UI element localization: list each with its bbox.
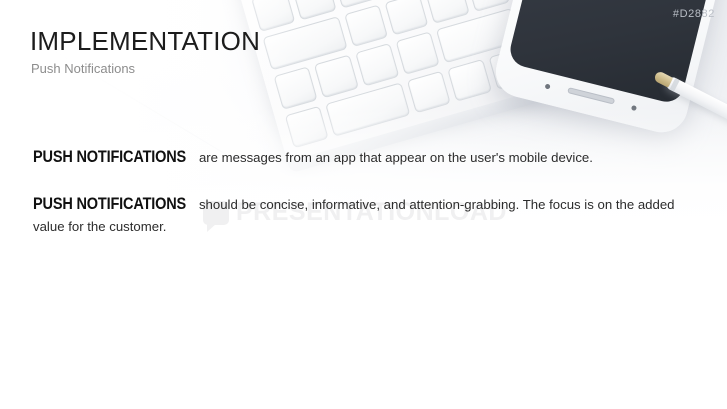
page-title: IMPLEMENTATION (30, 28, 260, 54)
body-content: Push Notificationsare messages from an a… (33, 146, 678, 236)
paragraph: Push Notificationsshould be concise, inf… (33, 193, 678, 236)
paragraph-lead-in: Push Notifications (33, 146, 186, 170)
slide-id-label: #D2882 (673, 8, 715, 20)
slide: #D2882 IMPLEMENTATION Push Notifications… (0, 0, 727, 409)
paragraph-lead-in: Push Notifications (33, 193, 186, 217)
paragraph: Push Notificationsare messages from an a… (33, 146, 678, 170)
slide-header: IMPLEMENTATION Push Notifications (30, 28, 260, 75)
paragraph-text: are messages from an app that appear on … (199, 150, 593, 165)
page-subtitle: Push Notifications (31, 62, 260, 75)
